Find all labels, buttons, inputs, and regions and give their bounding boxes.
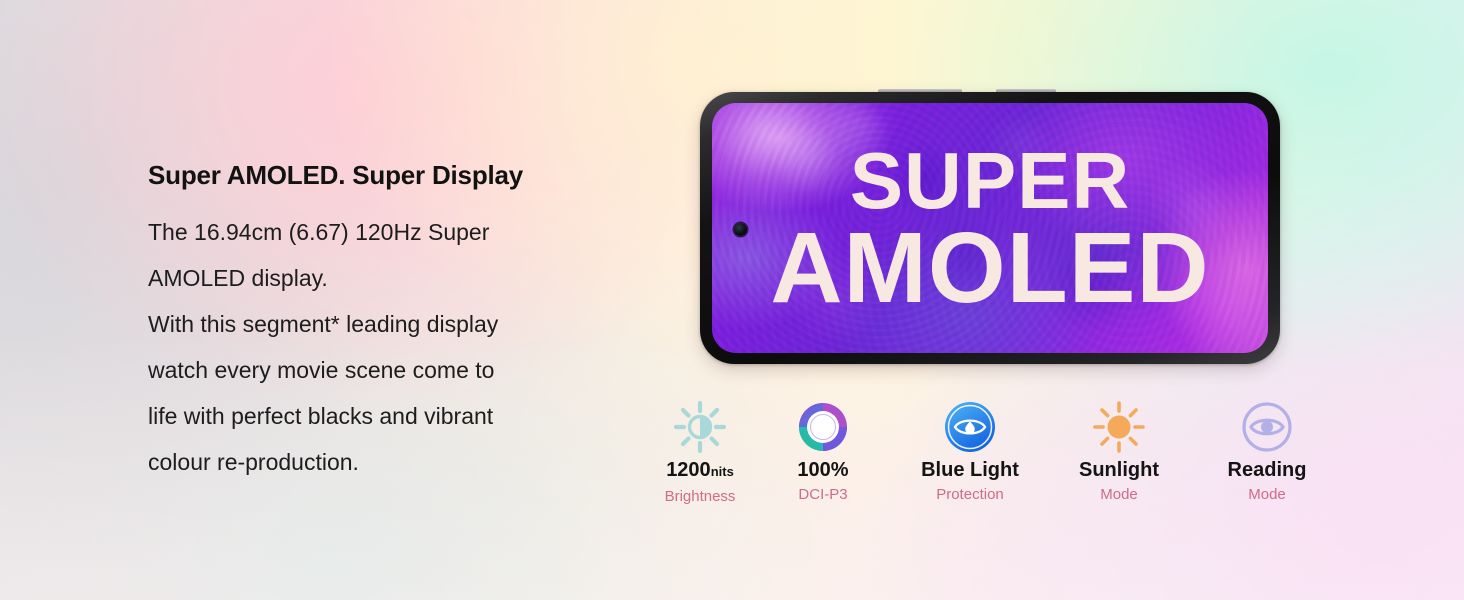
body-line-3: With this segment* leading display [148,301,648,347]
copy-block: Super AMOLED. Super Display The 16.94cm … [148,156,648,485]
feature-reading-value: Reading [1228,459,1307,481]
feature-brightness-value: 1200 [666,459,711,481]
body-line-2: AMOLED display. [148,255,648,301]
body-line-4: watch every movie scene come to [148,347,648,393]
punch-hole-camera-icon [734,223,747,236]
blue-light-eye-icon [894,396,1046,458]
page-title: Super AMOLED. Super Display [148,156,648,194]
feature-reading-title: Reading [1192,458,1342,482]
feature-reading-sub: Mode [1192,484,1342,506]
feature-blue-light-title: Blue Light [894,458,1046,482]
color-wheel-icon [752,396,894,458]
sun-icon [1046,396,1192,458]
phone-bezel: SUPER AMOLED [700,92,1280,364]
reading-eye-icon [1192,396,1342,458]
feature-sunlight-title: Sunlight [1046,458,1192,482]
feature-brightness-unit: nits [711,464,734,479]
brightness-icon [648,396,752,458]
feature-blue-light: Blue Light Protection [894,396,1046,506]
body-line-5: life with perfect blacks and vibrant [148,393,648,439]
feature-blue-light-sub: Protection [894,484,1046,506]
body-line-6: colour re-production. [148,439,648,485]
feature-sunlight: Sunlight Mode [1046,396,1192,506]
feature-sunlight-sub: Mode [1046,484,1192,506]
screen-wordmark-line-2: AMOLED [770,220,1209,316]
feature-dci-p3: 100% DCI-P3 [752,396,894,506]
body-line-1: The 16.94cm (6.67) 120Hz Super [148,209,648,255]
feature-sunlight-value: Sunlight [1079,459,1159,481]
feature-brightness: 1200nits Brightness [648,396,752,508]
screen-wordmark: SUPER AMOLED [712,103,1268,353]
phone-device: SUPER AMOLED [700,92,1280,364]
feature-reading: Reading Mode [1192,396,1342,506]
body-copy: The 16.94cm (6.67) 120Hz Super AMOLED di… [148,209,648,485]
feature-dci-p3-value: 100% [797,459,848,481]
screen-wordmark-line-1: SUPER [850,140,1131,222]
feature-brightness-title: 1200nits [648,458,752,484]
feature-strip: 1200nits Brightness [648,396,1348,508]
feature-dci-p3-title: 100% [752,458,894,482]
feature-brightness-sub: Brightness [648,486,752,508]
feature-dci-p3-sub: DCI-P3 [752,484,894,506]
feature-blue-light-value: Blue Light [921,459,1019,481]
phone-screen: SUPER AMOLED [712,103,1268,353]
